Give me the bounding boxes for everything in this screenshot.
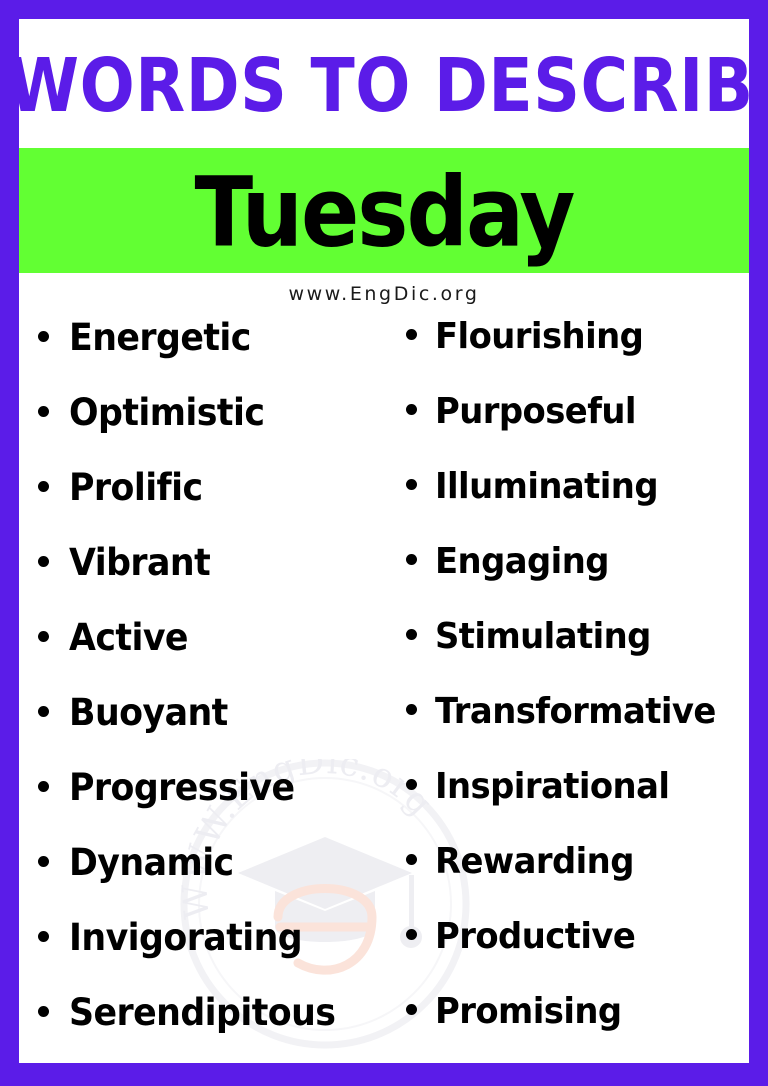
bullet-icon xyxy=(406,929,417,940)
bullet-icon xyxy=(406,554,417,565)
word-label: Dynamic xyxy=(69,844,234,881)
word-label: Illuminating xyxy=(435,469,658,505)
bullet-icon xyxy=(406,704,417,715)
bullet-icon xyxy=(406,329,417,340)
bullet-icon xyxy=(38,781,49,792)
poster-frame: WWW.EngDic.org WORDS TO DESCRIBE xyxy=(0,0,768,1086)
list-item: Productive xyxy=(406,919,749,994)
bullet-icon xyxy=(38,856,49,867)
word-label: Vibrant xyxy=(69,544,210,581)
word-label: Invigorating xyxy=(69,919,302,956)
bullet-icon xyxy=(38,931,49,942)
page-title: WORDS TO DESCRIBE xyxy=(19,54,749,117)
bullet-icon xyxy=(38,556,49,567)
word-column-left: Energetic Optimistic Prolific Vibrant xyxy=(19,319,390,1063)
word-label: Transformative xyxy=(435,694,716,730)
list-item: Inspirational xyxy=(406,769,749,844)
subject-heading: Tuesday xyxy=(195,164,574,260)
list-item: Transformative xyxy=(406,694,749,769)
word-label: Stimulating xyxy=(435,619,651,655)
bullet-icon xyxy=(38,706,49,717)
bullet-icon xyxy=(406,479,417,490)
word-columns: Energetic Optimistic Prolific Vibrant xyxy=(19,319,749,1063)
bullet-icon xyxy=(38,1006,49,1017)
word-label: Buoyant xyxy=(69,694,228,731)
word-list-right: Flourishing Purposeful Illuminating Enga… xyxy=(406,319,749,1063)
list-item: Invigorating xyxy=(38,919,390,994)
bullet-icon xyxy=(38,406,49,417)
word-column-right: Flourishing Purposeful Illuminating Enga… xyxy=(390,319,749,1063)
list-item: Optimistic xyxy=(38,394,390,469)
word-label: Productive xyxy=(435,919,635,955)
word-label: Progressive xyxy=(69,769,295,806)
word-label: Serendipitous xyxy=(69,994,335,1031)
list-item: Energetic xyxy=(38,319,390,394)
list-item: Flourishing xyxy=(406,319,749,394)
list-item: Engaging xyxy=(406,544,749,619)
bullet-icon xyxy=(38,631,49,642)
word-label: Optimistic xyxy=(69,394,264,431)
list-item: Rewarding xyxy=(406,844,749,919)
bullet-icon xyxy=(406,1004,417,1015)
site-url: www.EngDic.org xyxy=(19,283,749,305)
subject-band: Tuesday xyxy=(19,148,749,273)
list-item: Progressive xyxy=(38,769,390,844)
word-label: Energetic xyxy=(69,319,251,356)
word-label: Active xyxy=(69,619,188,656)
word-label: Engaging xyxy=(435,544,609,580)
list-item: Dynamic xyxy=(38,844,390,919)
word-label: Inspirational xyxy=(435,769,669,805)
bullet-icon xyxy=(406,404,417,415)
word-label: Purposeful xyxy=(435,394,636,430)
list-item: Serendipitous xyxy=(38,994,390,1063)
word-label: Rewarding xyxy=(435,844,634,880)
list-item: Prolific xyxy=(38,469,390,544)
bullet-icon xyxy=(406,779,417,790)
bullet-icon xyxy=(38,331,49,342)
word-label: Prolific xyxy=(69,469,203,506)
bullet-icon xyxy=(406,629,417,640)
list-item: Buoyant xyxy=(38,694,390,769)
page-title-text: WORDS TO DESCRIBE xyxy=(19,48,749,122)
word-list-left: Energetic Optimistic Prolific Vibrant xyxy=(38,319,390,1063)
bullet-icon xyxy=(406,854,417,865)
bullet-icon xyxy=(38,481,49,492)
list-item: Purposeful xyxy=(406,394,749,469)
poster-card: WWW.EngDic.org WORDS TO DESCRIBE xyxy=(19,19,749,1063)
list-item: Active xyxy=(38,619,390,694)
list-item: Illuminating xyxy=(406,469,749,544)
word-label: Promising xyxy=(435,994,622,1030)
list-item: Vibrant xyxy=(38,544,390,619)
word-label: Flourishing xyxy=(435,319,643,355)
list-item: Promising xyxy=(406,994,749,1063)
list-item: Stimulating xyxy=(406,619,749,694)
